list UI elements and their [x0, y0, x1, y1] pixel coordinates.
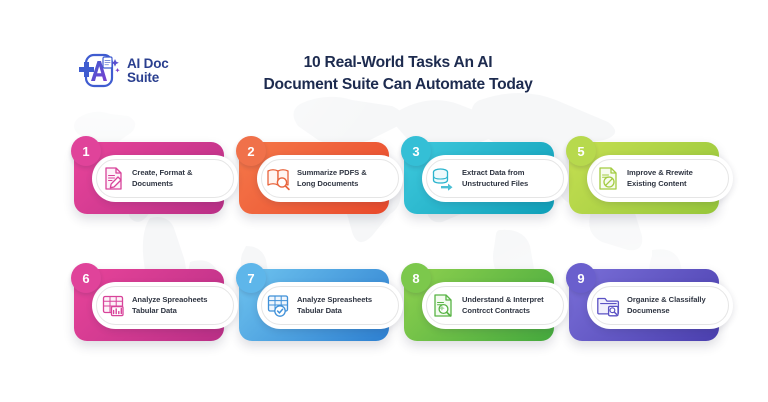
book-magnifier-icon — [266, 166, 291, 191]
task-card[interactable]: 7 Analyze Spreasheets Tabular Data — [231, 263, 403, 349]
task-card[interactable]: 9 Organize & Classifally Documens — [561, 263, 733, 349]
task-card-label-line2: Documents — [132, 179, 173, 188]
document-pen-icon — [101, 166, 126, 191]
task-card-pill[interactable]: Organize & Classifally Documense — [587, 282, 733, 329]
task-card-label-line2: Tabular Data — [297, 306, 342, 315]
task-card-grid: 1 Create, Format & Documents — [0, 128, 768, 382]
task-card-pill[interactable]: Improve & Rrewite Existing Content — [587, 155, 733, 202]
task-card[interactable]: 1 Create, Format & Documents — [66, 136, 238, 222]
task-card-label: Summarize PDFS & Long Documents — [297, 168, 367, 190]
spreadsheet-check-icon — [266, 293, 291, 318]
task-card-pill[interactable]: Summarize PDFS & Long Documents — [257, 155, 403, 202]
contract-search-icon — [431, 293, 456, 318]
task-card-pill[interactable]: Create, Format & Documents — [92, 155, 238, 202]
page-title-line-1: 10 Real-World Tasks An AI — [233, 52, 563, 74]
brand-logo-text: AI Doc Suite — [127, 57, 169, 85]
task-card-row-top: 1 Create, Format & Documents — [0, 128, 768, 255]
header: AI Doc Suite 10 Real-World Tasks An AI D… — [0, 0, 768, 120]
document-edit-icon — [596, 166, 621, 191]
task-card-label: Analyze Spreasheets Tabular Data — [297, 295, 372, 317]
task-card-number-badge: 5 — [566, 136, 596, 166]
task-card-pill[interactable]: Analyze Spreaoheets Tabular Data — [92, 282, 238, 329]
task-card[interactable]: 6 Analyze Spreaoheets Tabular Data — [66, 263, 238, 349]
infographic-canvas: AI Doc Suite 10 Real-World Tasks An AI D… — [0, 0, 768, 402]
task-card-label-line1: Understand & Interpret — [462, 295, 544, 304]
task-card-pill[interactable]: Extract Data from Unstructured Files — [422, 155, 568, 202]
task-card-label-line1: Analyze Spreasheets — [297, 295, 372, 304]
task-card-pill[interactable]: Analyze Spreasheets Tabular Data — [257, 282, 403, 329]
task-card-label-line1: Summarize PDFS & — [297, 168, 367, 177]
task-card-label: Organize & Classifally Documense — [627, 295, 706, 317]
task-card[interactable]: 2 Summarize PDFS & Long Documents — [231, 136, 403, 222]
task-card-number-badge: 2 — [236, 136, 266, 166]
task-card-label-line2: Tabular Data — [132, 306, 177, 315]
task-card-pill[interactable]: Understand & Interpret Contrcct Contract… — [422, 282, 568, 329]
brand-name-line2: Suite — [127, 71, 169, 85]
task-card[interactable]: 5 Improve & Rrewite Existing Cont — [561, 136, 733, 222]
task-card-number-badge: 9 — [566, 263, 596, 293]
task-card-row-bottom: 6 Analyze Spreaoheets Tabular Data — [0, 255, 768, 382]
task-card-label-line1: Organize & Classifally — [627, 295, 706, 304]
task-card-label: Create, Format & Documents — [132, 168, 192, 190]
task-card-label-line1: Analyze Spreaoheets — [132, 295, 207, 304]
task-card-label-line2: Existing Content — [627, 179, 687, 188]
task-card-label-line1: Extract Data from — [462, 168, 524, 177]
task-card-label-line1: Improve & Rrewite — [627, 168, 693, 177]
ai-doc-suite-logo-icon — [76, 50, 122, 92]
task-card-number-badge: 8 — [401, 263, 431, 293]
task-card-label: Improve & Rrewite Existing Content — [627, 168, 693, 190]
task-card-label: Analyze Spreaoheets Tabular Data — [132, 295, 207, 317]
brand-logo[interactable]: AI Doc Suite — [76, 50, 169, 92]
spreadsheet-chart-icon — [101, 293, 126, 318]
page-title: 10 Real-World Tasks An AI Document Suite… — [233, 52, 563, 96]
task-card-label: Understand & Interpret Contrcct Contract… — [462, 295, 544, 317]
task-card-label: Extract Data from Unstructured Files — [462, 168, 528, 190]
task-card-label-line2: Unstructured Files — [462, 179, 528, 188]
task-card-label-line2: Long Documents — [297, 179, 358, 188]
task-card-label-line2: Documense — [627, 306, 670, 315]
task-card[interactable]: 8 Understand & Interpret — [396, 263, 568, 349]
task-card-number-badge: 6 — [71, 263, 101, 293]
task-card-label-line2: Contrcct Contracts — [462, 306, 530, 315]
database-arrow-icon — [431, 166, 456, 191]
task-card-label-line1: Create, Format & — [132, 168, 192, 177]
brand-name-line1: AI Doc — [127, 57, 169, 71]
task-card-number-badge: 3 — [401, 136, 431, 166]
page-title-line-2: Document Suite Can Automate Today — [233, 74, 563, 96]
folder-organize-icon — [596, 293, 621, 318]
task-card[interactable]: 3 Extract Data from Unstructured Files — [396, 136, 568, 222]
task-card-number-badge: 1 — [71, 136, 101, 166]
task-card-number-badge: 7 — [236, 263, 266, 293]
